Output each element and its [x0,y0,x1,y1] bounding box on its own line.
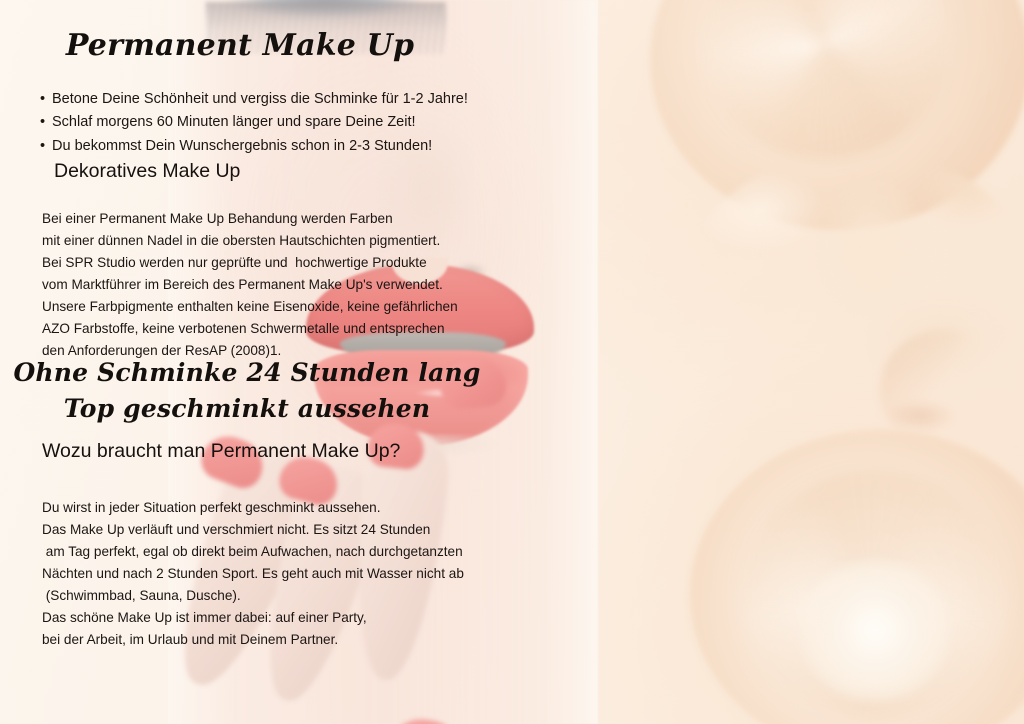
text-line: am Tag perfekt, egal ob direkt beim Aufw… [42,541,512,563]
text-line: vom Marktführer im Bereich des Permanent… [42,274,512,296]
slogan-line-2: Top geschminkt aussehen [12,391,482,427]
text-line: Bei SPR Studio werden nur geprüfte und h… [42,252,512,274]
text-line: Unsere Farbpigmente enthalten keine Eise… [42,296,512,318]
right-column: Ist Permanent Make Up schmerzhaft? Nein.… [528,0,1024,724]
text-line: AZO Farbstoffe, keine verbotenen Schwerm… [42,318,512,340]
benefit-list: • Betone Deine Schönheit und vergiss die… [40,88,500,158]
list-item: • Schlaf morgens 60 Minuten länger und s… [40,111,500,134]
text-line: Das Make Up verläuft und verschmiert nic… [42,519,512,541]
text-line: mit einer dünnen Nadel in die obersten H… [42,230,512,252]
paragraph-behandlung: Bei einer Permanent Make Up Behandung we… [42,208,512,362]
list-item: • Du bekommst Dein Wunschergebnis schon … [40,135,500,158]
heading-dekoratives-make-up: Dekoratives Make Up [54,160,240,183]
paragraph-wozu: Du wirst in jeder Situation perfekt gesc… [42,497,512,651]
left-column: Permanent Make Up • Betone Deine Schönhe… [0,0,520,724]
slogan-heading: Ohne Schminke 24 Stunden lang Top geschm… [12,355,482,428]
flyer-page: Permanent Make Up • Betone Deine Schönhe… [0,0,1024,724]
text-line: Du wirst in jeder Situation perfekt gesc… [42,497,512,519]
text-line: (Schwimmbad, Sauna, Dusche). [42,585,512,607]
text-line: Das schöne Make Up ist immer dabei: auf … [42,607,512,629]
bullet-icon: • [40,111,52,134]
text-line: Nächten und nach 2 Stunden Sport. Es geh… [42,563,512,585]
bullet-icon: • [40,135,52,158]
list-item-label: Schlaf morgens 60 Minuten länger und spa… [52,111,416,134]
text-line: bei der Arbeit, im Urlaub und mit Deinem… [42,629,512,651]
list-item: • Betone Deine Schönheit und vergiss die… [40,88,500,111]
bullet-icon: • [40,88,52,111]
flyer-main-title: Permanent Make Up [0,30,480,62]
text-line: Bei einer Permanent Make Up Behandung we… [42,208,512,230]
list-item-label: Betone Deine Schönheit und vergiss die S… [52,88,468,111]
slogan-line-1: Ohne Schminke 24 Stunden lang [12,355,482,391]
list-item-label: Du bekommst Dein Wunschergebnis schon in… [52,135,432,158]
heading-wozu-braucht-man: Wozu braucht man Permanent Make Up? [42,440,400,463]
